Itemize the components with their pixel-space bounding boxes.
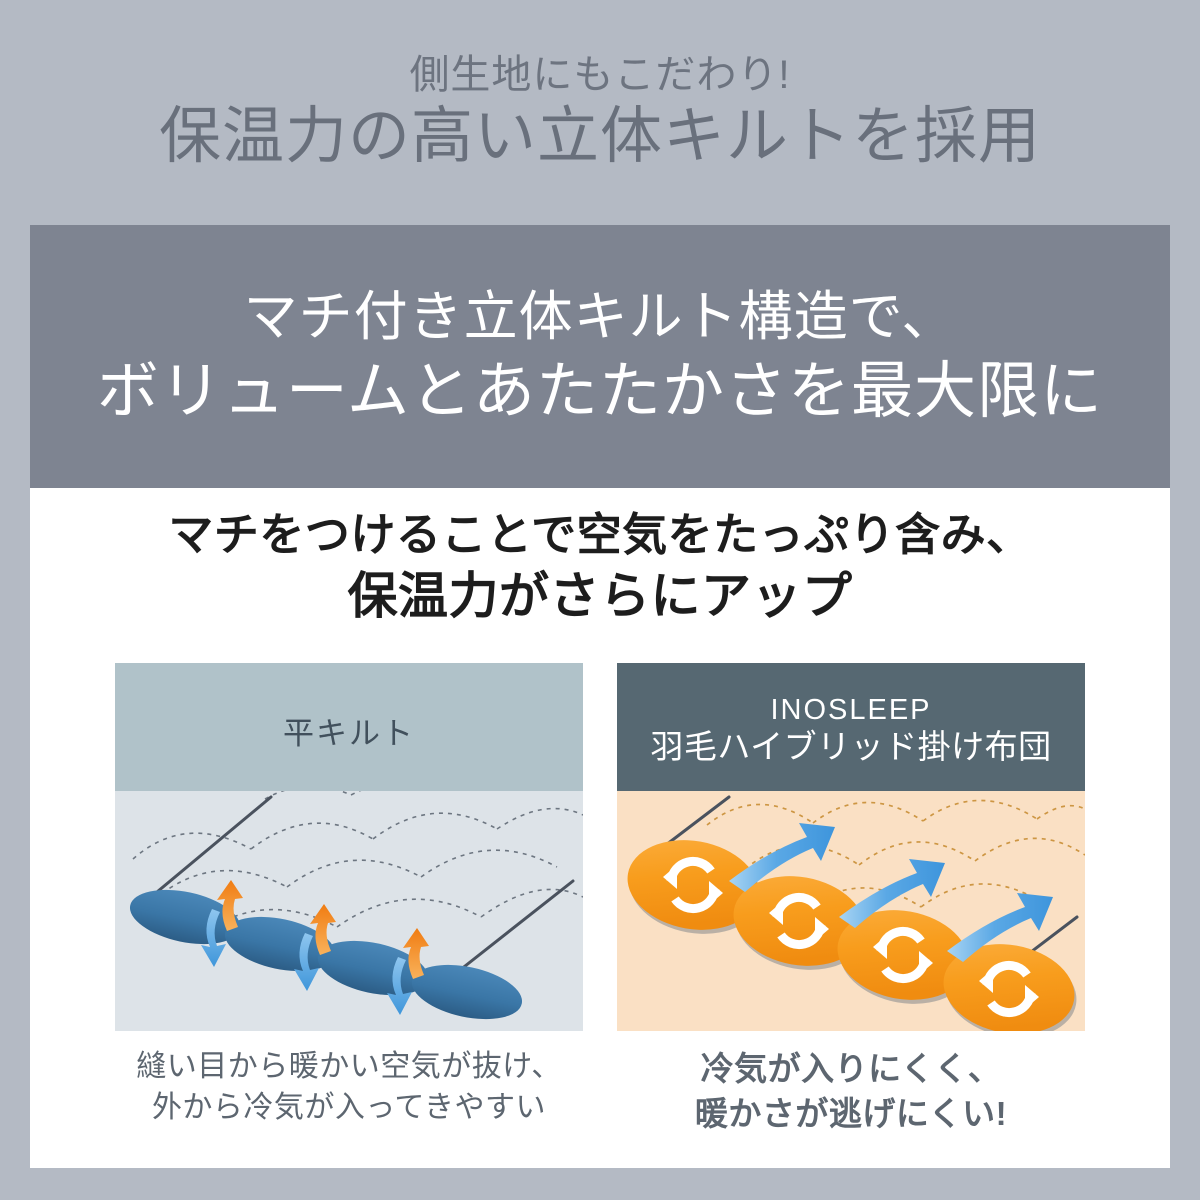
lead-line-1: マチをつけることで空気をたっぷり含み、 [30,506,1170,564]
hybrid-quilt-caption-line-1: 冷気が入りにくく、 [617,1047,1085,1092]
header-subtitle: 側生地にもこだわり! [409,53,790,97]
hybrid-quilt-figure: INOSLEEP 羽毛ハイブリッド掛け布団 [617,663,1085,1031]
hybrid-quilt-title: 羽毛ハイブリッド掛け布団 [650,727,1051,767]
hybrid-quilt-caption-line-2: 暖かさが逃げにくい! [617,1092,1085,1137]
flat-quilt-caption: 縫い目から暖かい空気が抜け、 外から冷気が入ってきやすい [115,1047,583,1128]
comparison-panels: 平キルト 縫い目から暖かい空気が抜け、 外から冷気が入ってきやすい [30,663,1170,1136]
lead-heading: マチをつけることで空気をたっぷり含み、 保温力がさらにアップ [30,506,1170,628]
feature-banner: マチ付き立体キルト構造で、 ボリュームとあたたかさを最大限に [30,225,1170,488]
flat-quilt-header: 平キルト [115,663,583,791]
page-header: 側生地にもこだわり! 保温力の高い立体キルトを採用 [0,0,1200,225]
flat-quilt-figure: 平キルト [115,663,583,1031]
lead-line-2: 保温力がさらにアップ [30,564,1170,628]
hybrid-quilt-header: INOSLEEP 羽毛ハイブリッド掛け布団 [617,663,1085,791]
page-title: 保温力の高い立体キルトを採用 [159,103,1041,171]
panel-inosleep-hybrid: INOSLEEP 羽毛ハイブリッド掛け布団 冷気が入りにくく、 暖かさが逃げにく… [617,663,1085,1136]
hybrid-quilt-brand: INOSLEEP [770,694,931,727]
banner-line-2: ボリュームとあたたかさを最大限に [97,359,1103,424]
flat-quilt-caption-line-2: 外から冷気が入ってきやすい [115,1088,583,1129]
panel-flat-quilt: 平キルト 縫い目から暖かい空気が抜け、 外から冷気が入ってきやすい [115,663,583,1136]
banner-line-1: マチ付き立体キルト構造で、 [244,289,957,346]
comparison-card: マチをつけることで空気をたっぷり含み、 保温力がさらにアップ [30,488,1170,1168]
flat-quilt-title: 平キルト [283,708,415,753]
flat-quilt-caption-line-1: 縫い目から暖かい空気が抜け、 [115,1047,583,1088]
hybrid-quilt-caption: 冷気が入りにくく、 暖かさが逃げにくい! [617,1047,1085,1136]
